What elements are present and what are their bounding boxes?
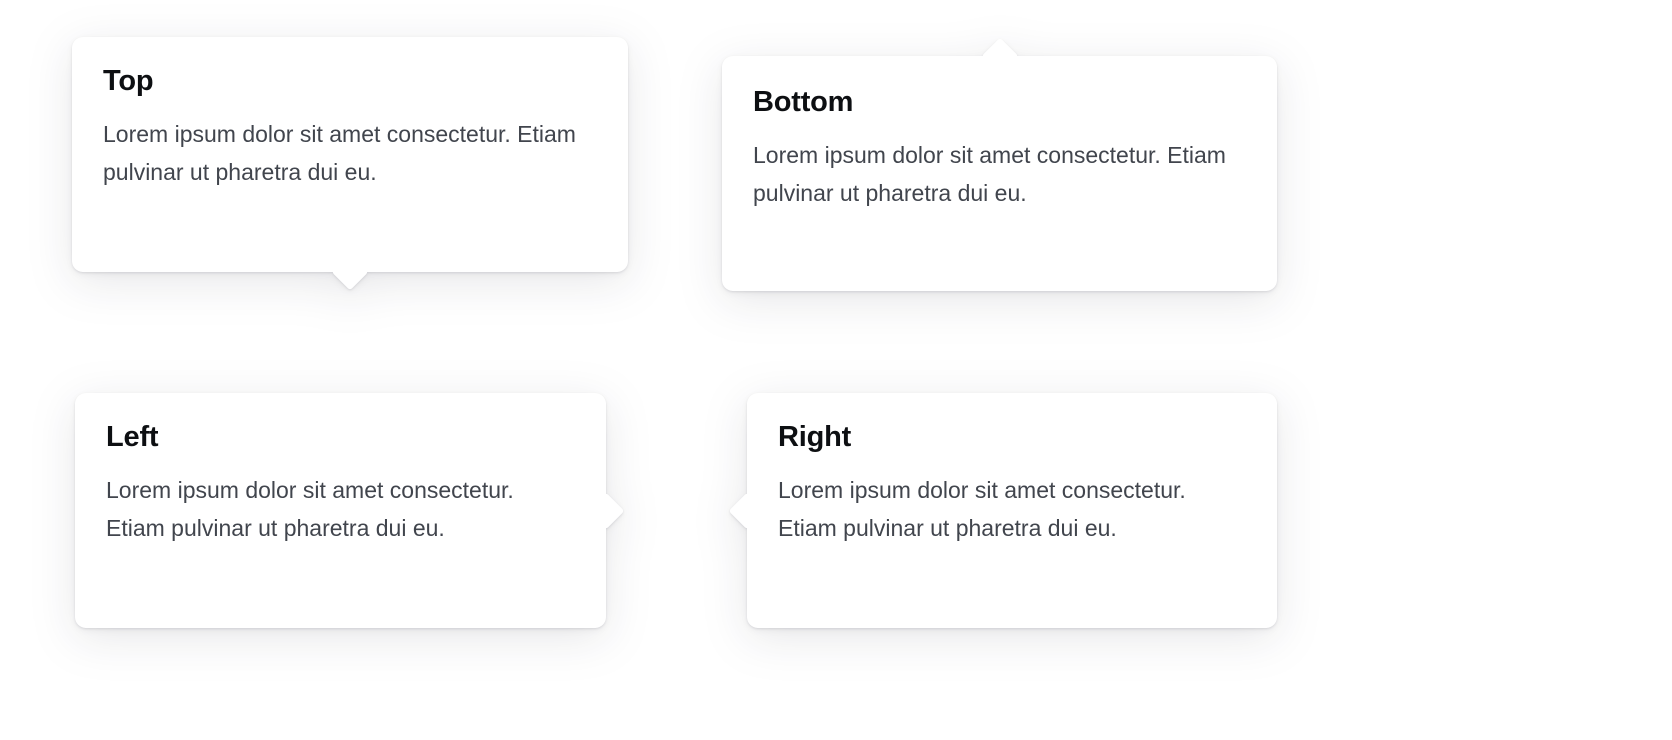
tooltip-title: Bottom: [753, 86, 1247, 119]
tooltip-body: Lorem ipsum dolor sit amet consectetur. …: [778, 471, 1247, 547]
tooltip-body: Lorem ipsum dolor sit amet consectetur. …: [106, 471, 576, 547]
tooltip-card-top[interactable]: Top Lorem ipsum dolor sit amet consectet…: [72, 37, 628, 272]
tooltip-body: Lorem ipsum dolor sit amet consectetur. …: [753, 136, 1247, 212]
tooltip-title: Top: [103, 65, 598, 98]
tooltip-arrow-down-icon: [332, 254, 369, 291]
tooltip-card-right[interactable]: Right Lorem ipsum dolor sit amet consect…: [747, 393, 1277, 628]
tooltip-arrow-right-icon: [588, 492, 625, 529]
tooltip-arrow-up-icon: [981, 38, 1018, 75]
tooltip-card-left[interactable]: Left Lorem ipsum dolor sit amet consecte…: [75, 393, 606, 628]
tooltip-showcase-canvas: Top Lorem ipsum dolor sit amet consectet…: [0, 0, 1672, 740]
tooltip-body: Lorem ipsum dolor sit amet consectetur. …: [103, 115, 598, 191]
tooltip-arrow-left-icon: [729, 492, 766, 529]
tooltip-title: Left: [106, 421, 576, 454]
tooltip-card-bottom[interactable]: Bottom Lorem ipsum dolor sit amet consec…: [722, 56, 1277, 291]
tooltip-title: Right: [778, 421, 1247, 454]
